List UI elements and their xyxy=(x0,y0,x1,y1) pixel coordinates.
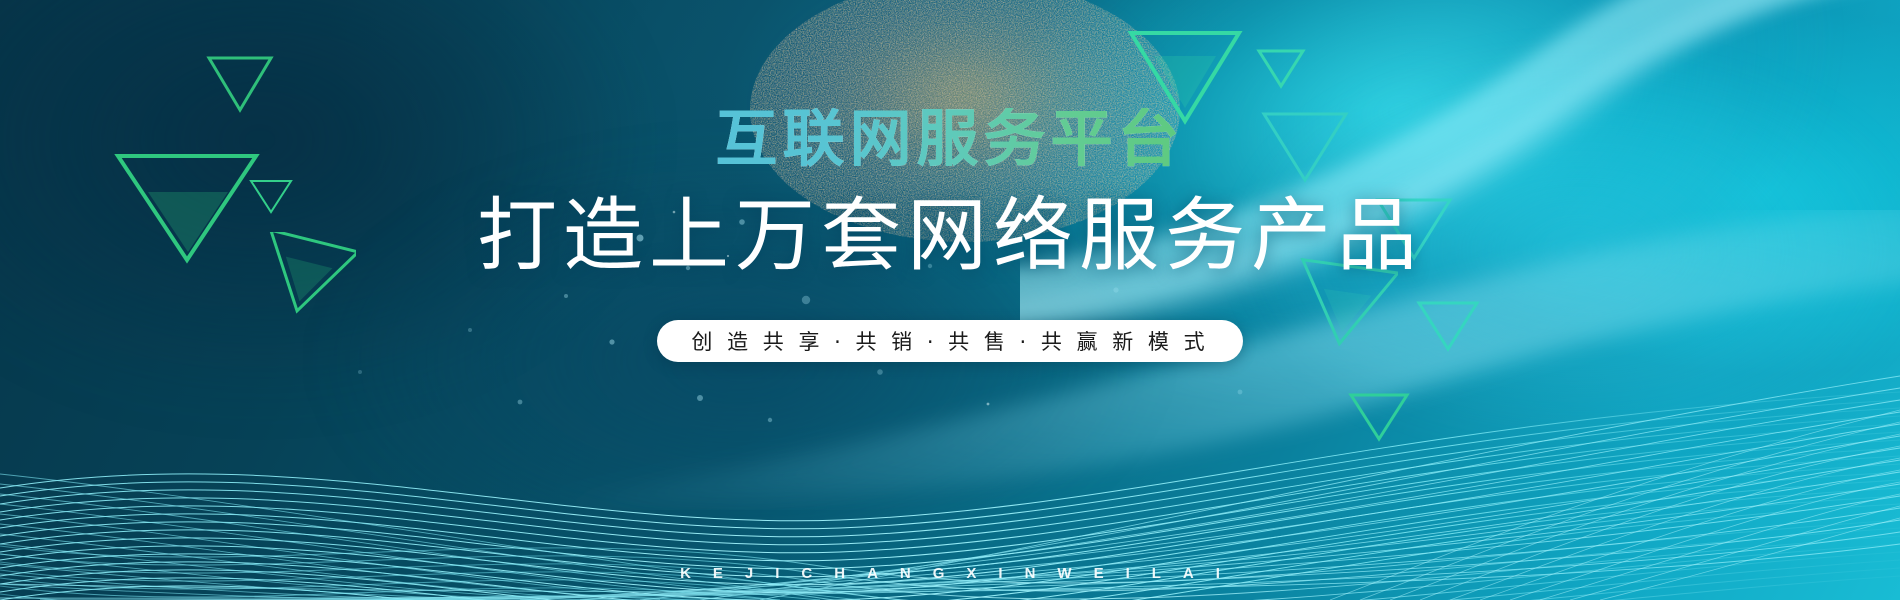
triangle-right-mid xyxy=(1260,108,1350,186)
triangle-right-edge xyxy=(1416,298,1480,354)
light-ribbon-upper xyxy=(1020,0,1900,360)
banner-title-primary-wrap: 互联网服务平台 互联网服务平台 xyxy=(709,0,1190,170)
banner-content: 互联网服务平台 互联网服务平台 打造上万套网络服务产品 创 造 共 享 · 共 … xyxy=(0,0,1900,600)
banner-pinyin-strip: KEJICHANGXINWEILAI xyxy=(0,565,1900,582)
triangle-top-left-small xyxy=(205,52,275,114)
light-ribbon-lower xyxy=(560,210,1900,510)
bokeh-dots xyxy=(0,0,1900,600)
triangle-left-mid xyxy=(256,232,356,318)
banner-tagline-pill: 创 造 共 享 · 共 销 · 共 售 · 共 赢 新 模 式 xyxy=(657,320,1242,362)
banner-title-secondary: 打造上万套网络服务产品 xyxy=(469,196,1431,276)
triangle-right-small xyxy=(1256,46,1306,90)
hero-banner: 互联网服务平台 互联网服务平台 打造上万套网络服务产品 创 造 共 享 · 共 … xyxy=(0,0,1900,600)
banner-tagline-text: 创 造 共 享 · 共 销 · 共 售 · 共 赢 新 模 式 xyxy=(691,326,1208,356)
background-glow-left xyxy=(0,0,640,400)
triangle-right-upper xyxy=(1126,26,1244,128)
triangle-right-bottom xyxy=(1292,258,1398,350)
background-glow-right-upper xyxy=(890,0,1900,503)
triangle-left-tiny xyxy=(248,176,294,216)
triangle-left-large xyxy=(112,148,262,268)
background-glow-right-lower xyxy=(1220,40,1900,460)
banner-title-primary-outline: 互联网服务平台 xyxy=(709,0,1190,62)
triangle-right-lower xyxy=(1374,194,1454,264)
banner-title-primary: 互联网服务平台 xyxy=(709,108,1190,170)
particle-dust-cloud xyxy=(700,0,1260,290)
triangle-right-last xyxy=(1348,390,1410,444)
bottom-wireframe-mesh xyxy=(0,370,1900,600)
background-glow-center xyxy=(330,150,1150,570)
